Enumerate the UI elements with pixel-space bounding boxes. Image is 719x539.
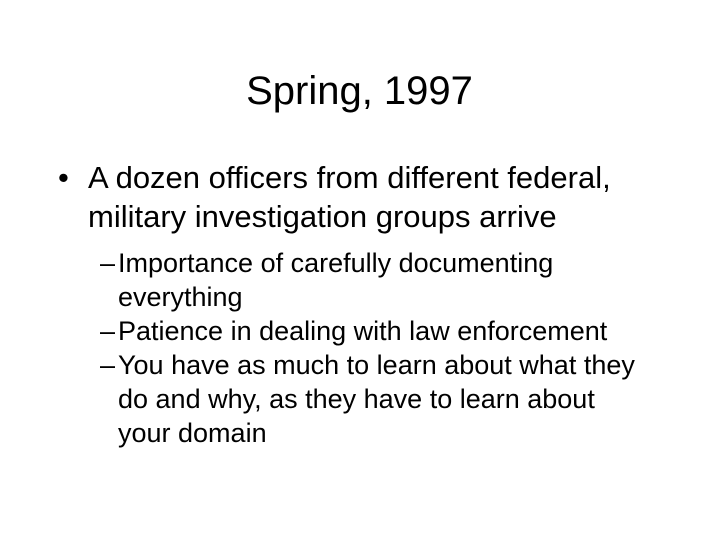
bullet-level2: – Importance of carefully documenting ev… — [56, 246, 666, 314]
bullet-level2: – You have as much to learn about what t… — [56, 348, 666, 450]
bullet-level2-text: You have as much to learn about what the… — [118, 348, 638, 450]
en-dash-icon: – — [100, 314, 120, 348]
slide-body: • A dozen officers from different federa… — [56, 158, 666, 450]
bullet-level2-text: Importance of carefully documenting ever… — [118, 246, 608, 314]
sub-bullet-list: – Importance of carefully documenting ev… — [56, 246, 666, 450]
presentation-slide: Spring, 1997 • A dozen officers from dif… — [0, 0, 719, 539]
page-title: Spring, 1997 — [0, 68, 719, 114]
bullet-level2-text: Patience in dealing with law enforcement — [118, 314, 658, 348]
bullet-level1: • A dozen officers from different federa… — [56, 158, 666, 236]
bullet-level2: – Patience in dealing with law enforceme… — [56, 314, 666, 348]
en-dash-icon: – — [100, 348, 120, 382]
en-dash-icon: – — [100, 246, 120, 280]
bullet-level1-text: A dozen officers from different federal,… — [88, 158, 628, 236]
bullet-dot-icon: • — [58, 158, 80, 197]
